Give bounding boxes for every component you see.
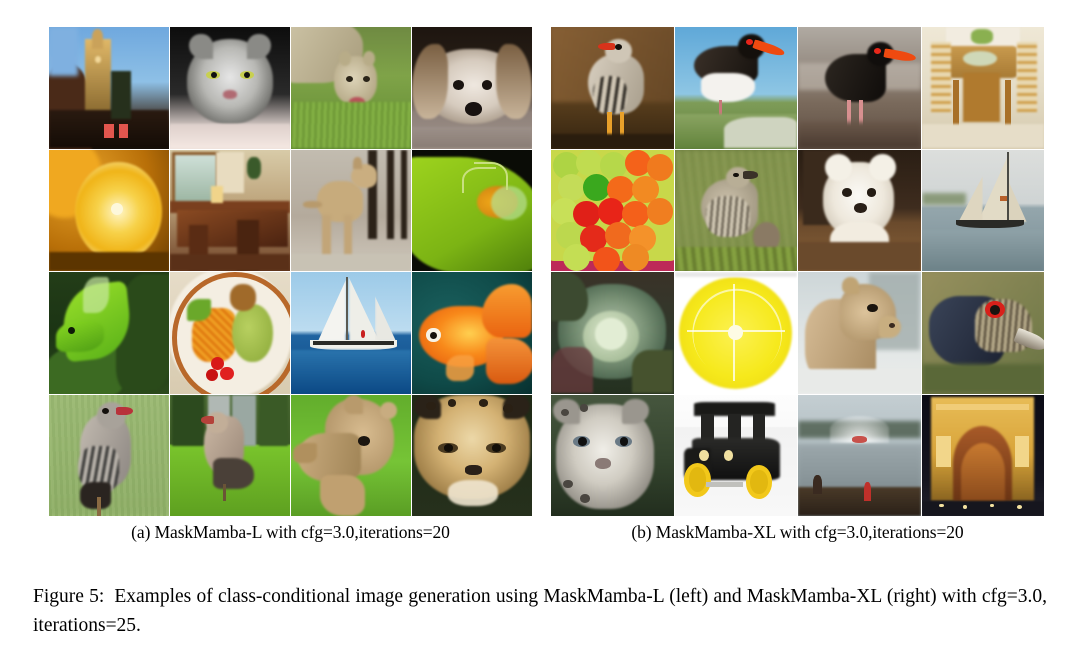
figure-container: (a) MaskMamba-L with cfg=3.0,iterations=… xyxy=(0,0,1080,659)
image-cell-partridge-in-grass xyxy=(49,395,169,517)
image-cell-lacewing-insect-on-leaf xyxy=(412,150,532,272)
image-cell-grouse-head-closeup xyxy=(922,272,1045,394)
figure-caption-text: Examples of class-conditional image gene… xyxy=(33,586,1047,636)
image-cell-snow-leopard-head xyxy=(551,395,674,517)
subcaption-panel-b: (b) MaskMamba-XL with cfg=3.0,iterations… xyxy=(551,522,1044,543)
image-cell-bowl-of-apples xyxy=(551,150,674,272)
image-cell-dining-room-table xyxy=(170,150,290,272)
image-cell-leopard-in-grass xyxy=(291,27,411,149)
image-cell-goldfish xyxy=(412,272,532,394)
image-cell-sailboat-on-water xyxy=(922,150,1045,272)
figure-panel-b xyxy=(551,27,1044,516)
image-cell-white-maltese-dog xyxy=(798,150,921,272)
image-cell-sliced-orange xyxy=(49,150,169,272)
image-cell-dining-table-and-chairs xyxy=(922,27,1045,149)
image-cell-camel-head-profile xyxy=(798,272,921,394)
image-cell-grouse-in-grass xyxy=(675,150,798,272)
image-grid-a xyxy=(49,27,532,516)
image-cell-lemon-slice xyxy=(675,272,798,394)
image-cell-schooner-sailboat xyxy=(291,272,411,394)
image-cell-camel-head xyxy=(291,395,411,517)
subcaption-panel-a: (a) MaskMamba-L with cfg=3.0,iterations=… xyxy=(49,522,532,543)
image-grid-b xyxy=(551,27,1044,516)
image-cell-black-oystercatcher-shore xyxy=(798,27,921,149)
image-cell-plate-of-food xyxy=(170,272,290,394)
image-cell-partridge-on-lawn xyxy=(170,395,290,517)
image-cell-vintage-black-car xyxy=(675,395,798,517)
figure-panel-a xyxy=(49,27,532,516)
image-cell-green-vine-snake xyxy=(49,272,169,394)
image-cell-cabbage-plant xyxy=(551,272,674,394)
image-cell-greyhound-dog-standing xyxy=(291,150,411,272)
image-cell-oystercatcher-on-rock xyxy=(675,27,798,149)
image-cell-snow-leopard-face xyxy=(170,27,290,149)
image-cell-partridge-on-rocky-ground xyxy=(551,27,674,149)
image-cell-church-tower-at-dusk xyxy=(49,27,169,149)
figure-label: Figure 5: xyxy=(33,586,104,607)
image-cell-lake-with-fountain xyxy=(798,395,921,517)
image-cell-jaguar-face xyxy=(412,395,532,517)
figure-caption: Figure 5:Examples of class-conditional i… xyxy=(33,582,1047,640)
image-cell-arc-de-triomphe-at-night xyxy=(922,395,1045,517)
image-cell-shih-tzu-puppy xyxy=(412,27,532,149)
